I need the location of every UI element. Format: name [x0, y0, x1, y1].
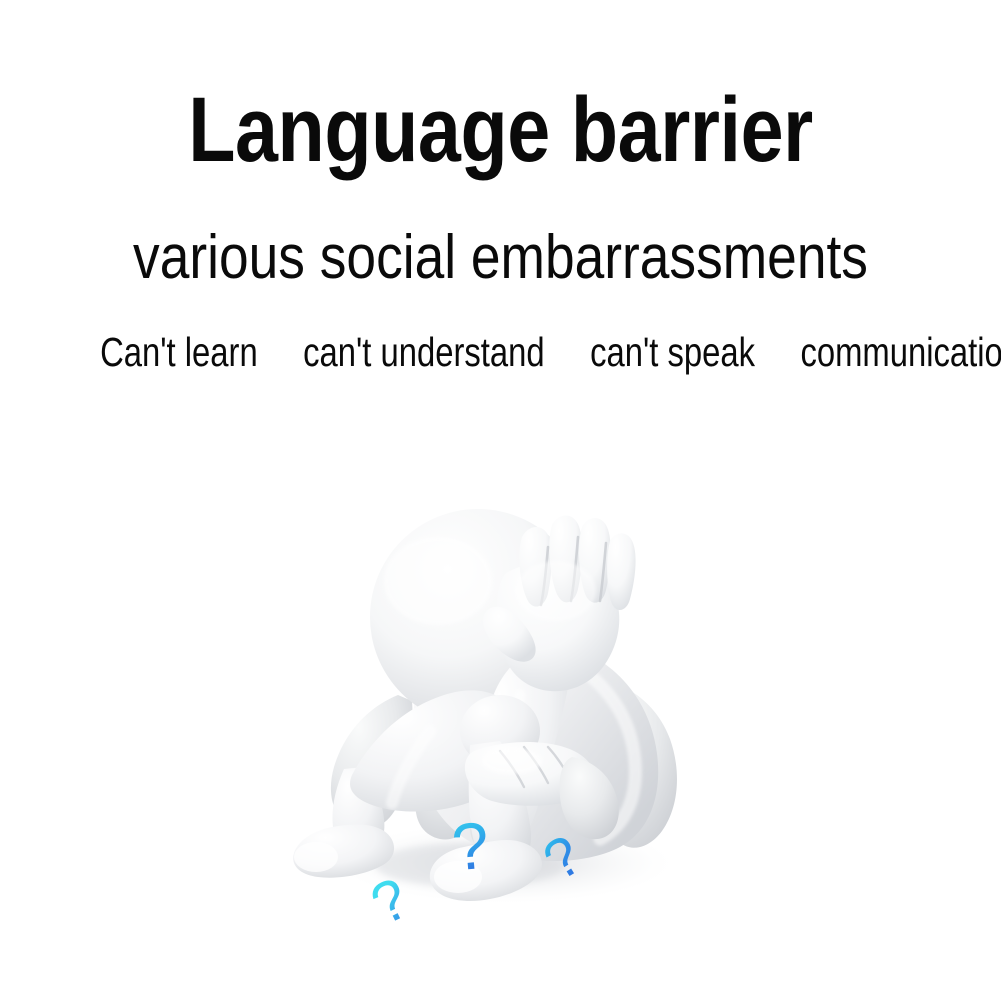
page-title: Language barrier: [80, 80, 921, 180]
tagline-row: Can't learn can't understand can't speak…: [100, 327, 901, 377]
tagline-item-2: can't understand: [303, 329, 545, 375]
poster-canvas: Language barrier various social embarras…: [0, 0, 1001, 1001]
sitting-figure-illustration: [0, 395, 1001, 915]
tagline-item-4: communication is difficult: [800, 329, 1001, 375]
page-subtitle: various social embarrassments: [70, 222, 931, 294]
question-mark-center-icon: ?: [449, 812, 491, 881]
tagline-item-3: can't speak: [590, 329, 755, 375]
tagline-item-1: Can't learn: [100, 329, 258, 375]
illustration-area: ? ? ?: [0, 395, 1001, 915]
